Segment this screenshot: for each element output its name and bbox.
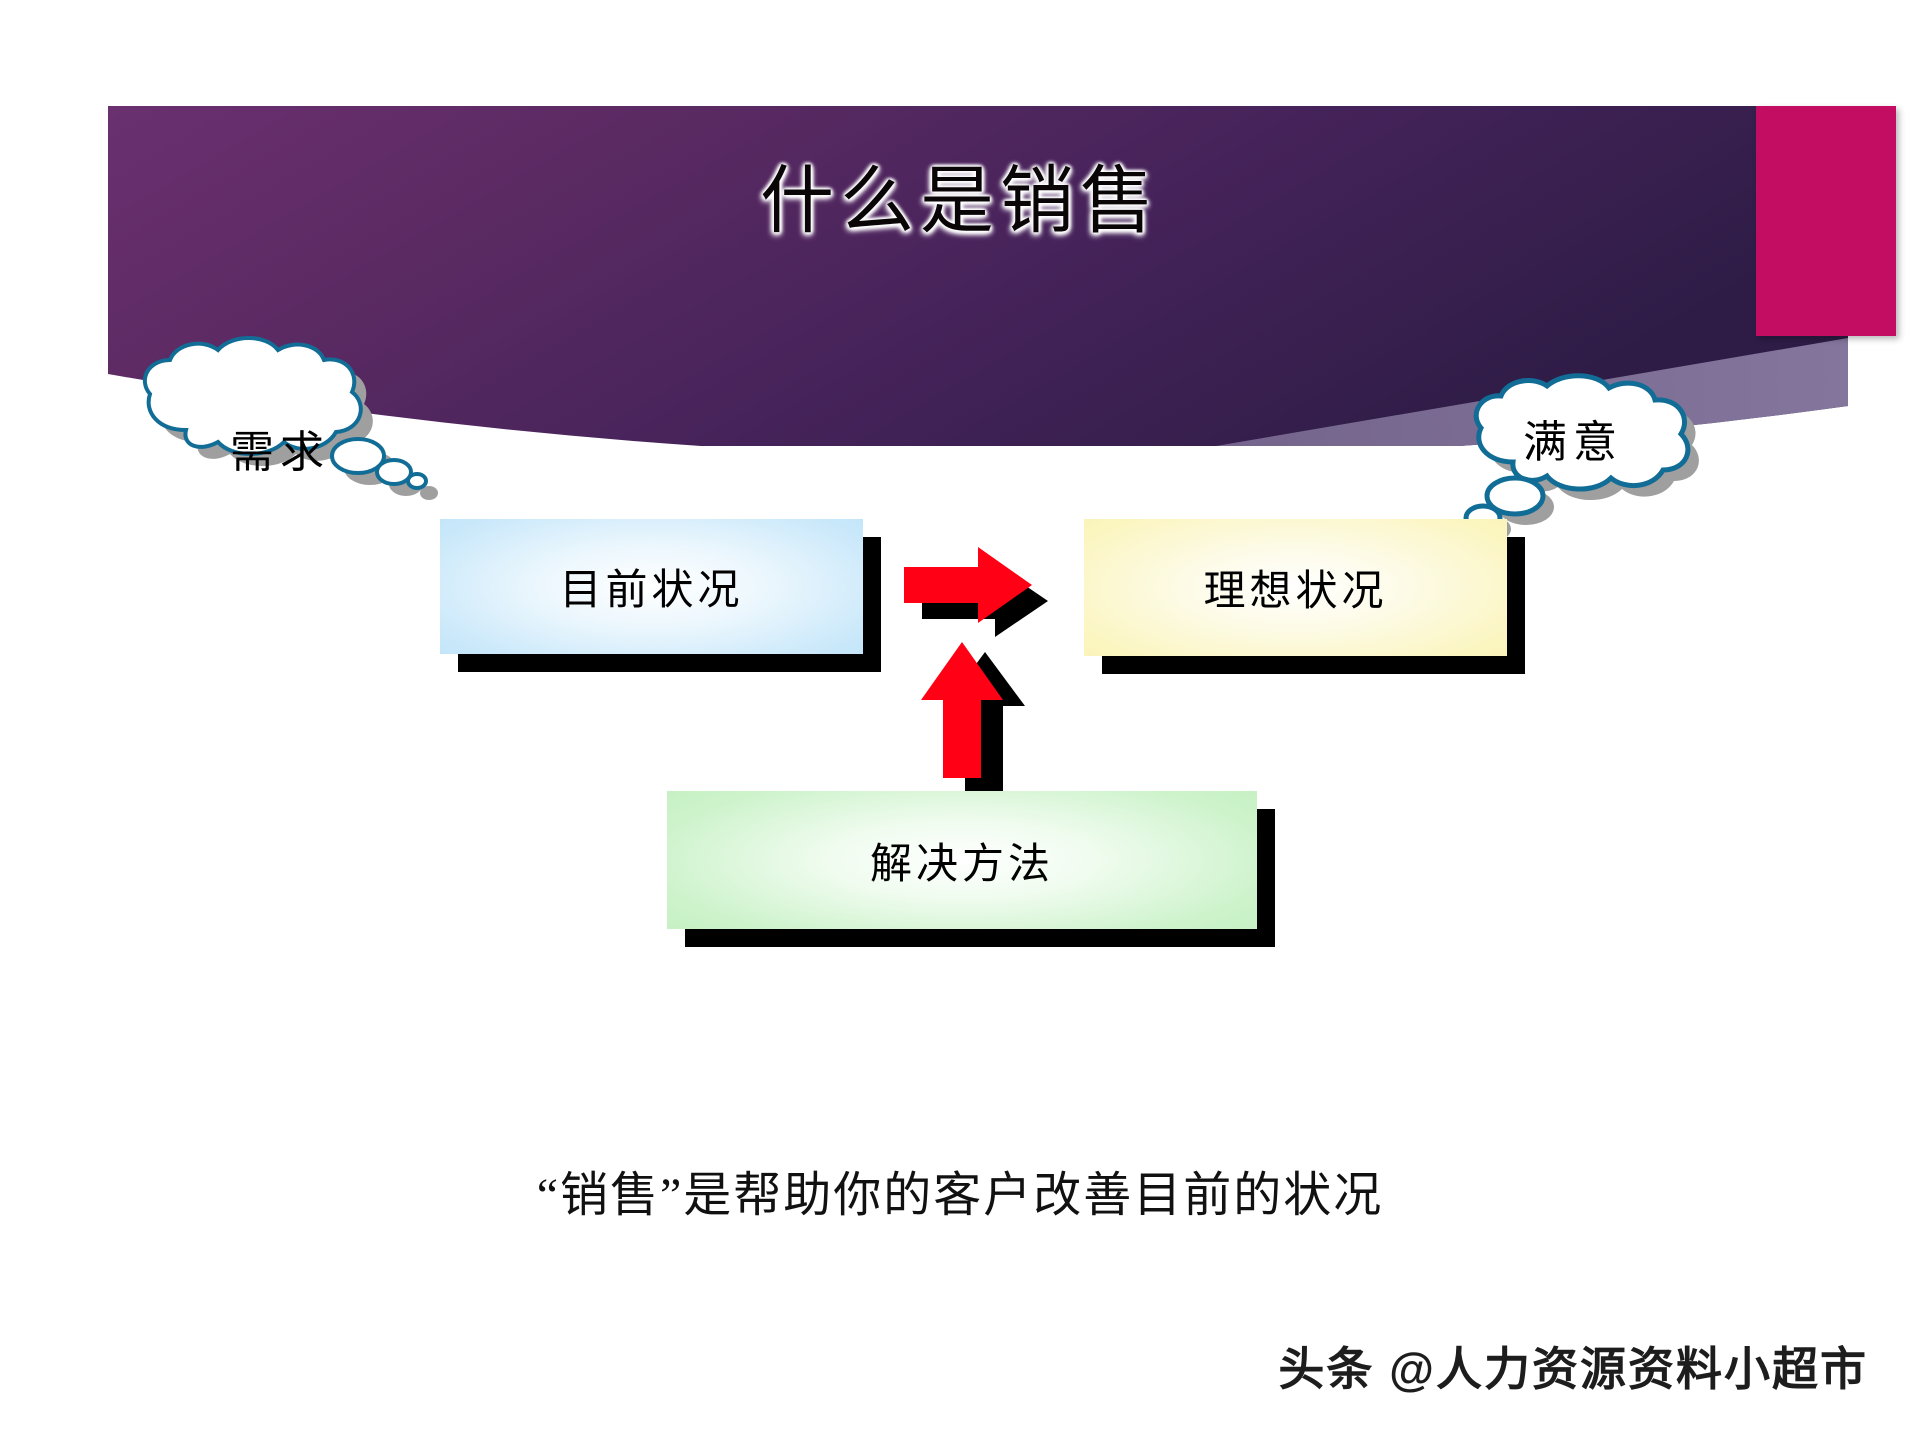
cloud-need-label: 需求 bbox=[230, 416, 330, 480]
process-box-current-situation: 目前状况 bbox=[440, 519, 863, 654]
arrow-up-icon bbox=[915, 640, 1035, 805]
box-label-current-situation: 目前状况 bbox=[559, 556, 743, 617]
magenta-accent-tab bbox=[1756, 106, 1896, 336]
arrow-right-icon bbox=[900, 535, 1060, 645]
watermark-text: 头条 @人力资源资料小超市 bbox=[1278, 1333, 1868, 1399]
slide-caption: “销售”是帮助你的客户改善目前的状况 bbox=[0, 1155, 1920, 1225]
cloud-satisfied-label: 满意 bbox=[1523, 406, 1623, 470]
process-box-ideal-situation: 理想状况 bbox=[1084, 519, 1507, 656]
process-box-solution: 解决方法 bbox=[667, 791, 1257, 929]
box-label-solution: 解决方法 bbox=[870, 830, 1054, 891]
box-label-ideal-situation: 理想状况 bbox=[1203, 557, 1387, 618]
